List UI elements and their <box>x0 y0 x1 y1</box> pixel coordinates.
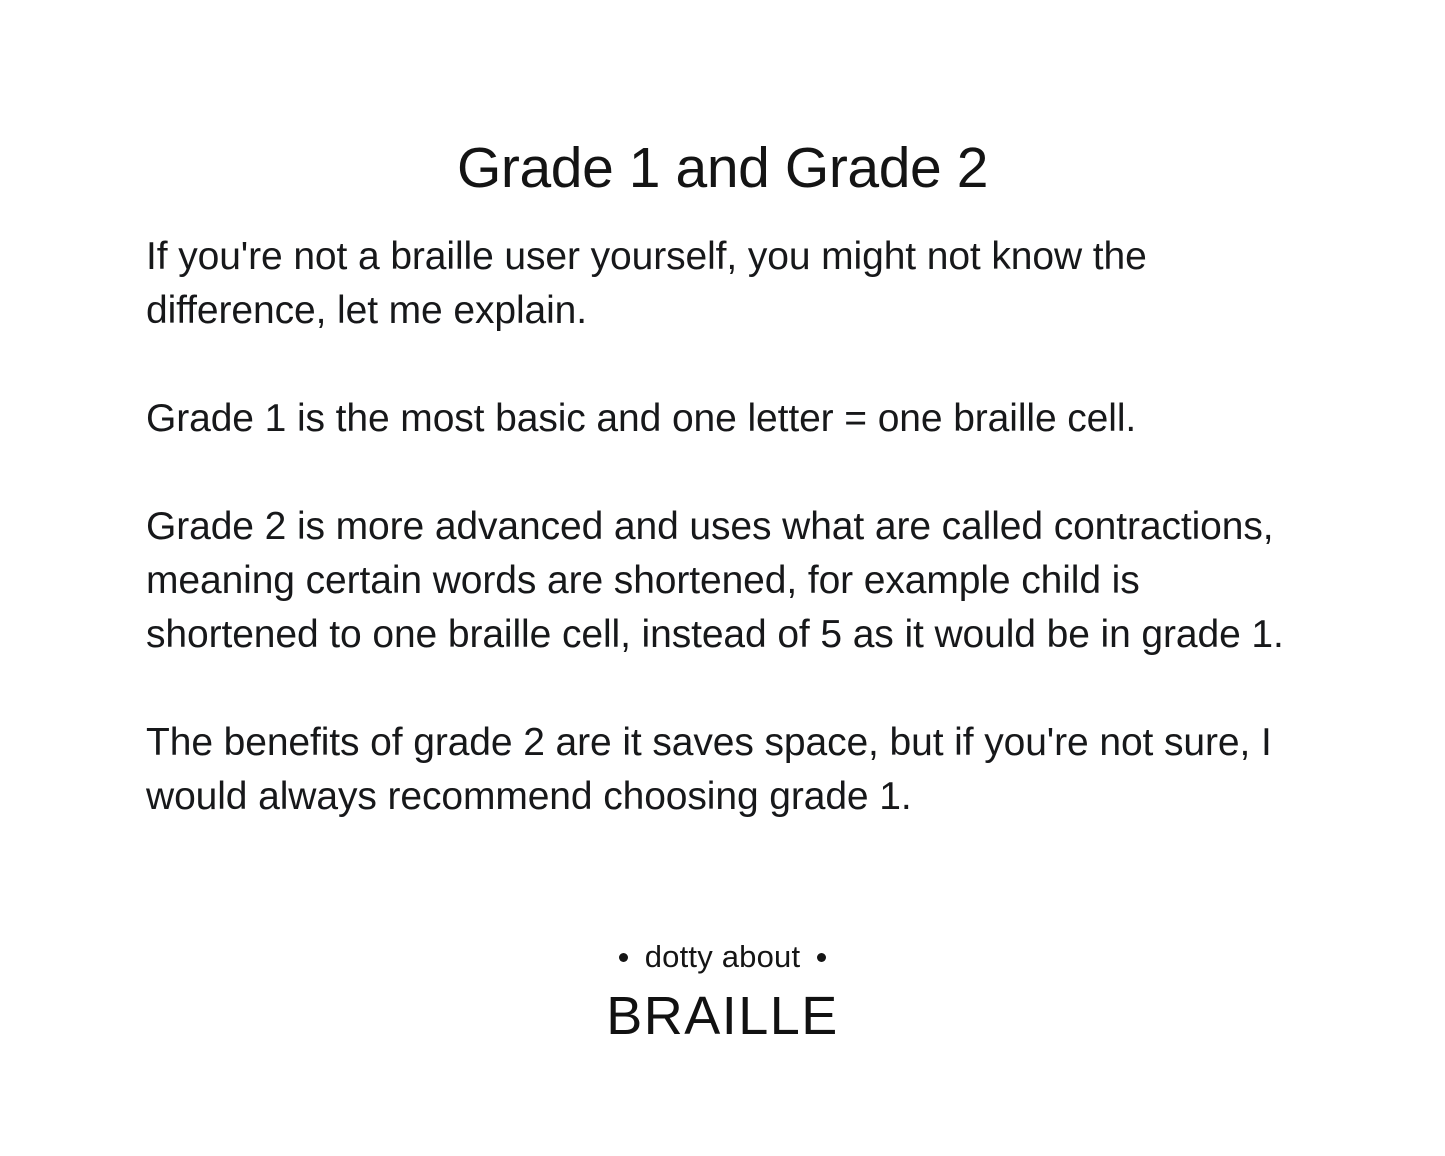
paragraph-grade-1: Grade 1 is the most basic and one letter… <box>146 392 1298 446</box>
slide-card: Grade 1 and Grade 2 If you're not a brai… <box>0 0 1445 1156</box>
dot-icon-right <box>817 953 826 962</box>
page-title: Grade 1 and Grade 2 <box>0 134 1445 202</box>
paragraph-benefits: The benefits of grade 2 are it saves spa… <box>146 716 1298 824</box>
dot-icon-left <box>619 953 628 962</box>
brand-logo: dotty about BRAILLE <box>0 938 1445 1047</box>
body-copy: If you're not a braille user yourself, y… <box>146 230 1298 824</box>
paragraph-intro: If you're not a braille user yourself, y… <box>146 230 1298 338</box>
brand-tagline: dotty about <box>645 938 801 976</box>
paragraph-grade-2: Grade 2 is more advanced and uses what a… <box>146 500 1298 662</box>
brand-name: BRAILLE <box>0 985 1445 1047</box>
brand-tagline-row: dotty about <box>0 938 1445 976</box>
